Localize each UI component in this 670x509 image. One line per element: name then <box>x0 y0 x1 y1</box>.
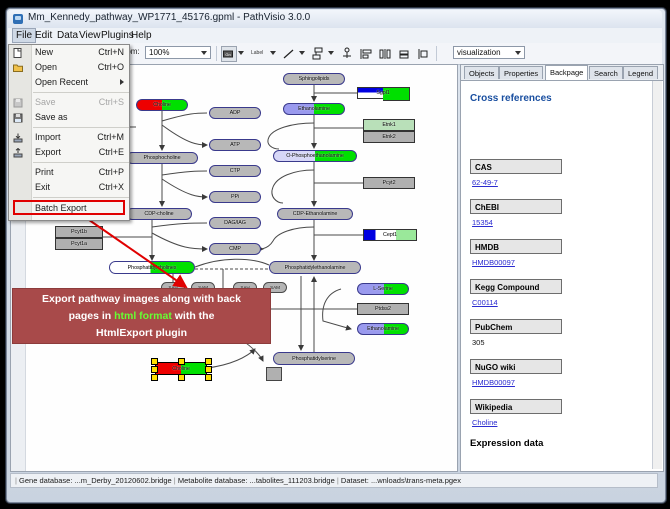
node-cmp[interactable]: CMP <box>209 243 261 255</box>
node-l-serine[interactable]: L-Serine <box>357 283 409 295</box>
callout-line2-pre: pages in <box>69 310 115 322</box>
tab-search[interactable]: Search <box>589 66 623 79</box>
menu-item-export[interactable]: Export Ctrl+E <box>9 145 129 160</box>
side-panel: Objects Properties Backpage Search Legen… <box>460 64 664 472</box>
callout-line2-post: with the <box>172 310 215 322</box>
xref-value-chebi[interactable]: 15354 <box>472 218 493 227</box>
node-cdp-choline[interactable]: CDP-choline <box>126 208 192 220</box>
node-ethanolamine-bottom[interactable]: Ethanolamine <box>357 323 409 335</box>
node-phosphatidylserine[interactable]: Phosphatidylserine <box>273 352 355 365</box>
node-cept1[interactable]: Cept1 <box>363 229 417 241</box>
callout-highlight: html format <box>114 310 172 322</box>
menu-item-label: Save as <box>35 112 68 122</box>
handle-w[interactable] <box>151 366 158 373</box>
pathvisio-icon <box>13 14 23 24</box>
folder-open-icon <box>13 63 24 73</box>
handle-nw[interactable] <box>151 358 158 365</box>
xref-header-pubchem: PubChem <box>470 319 562 334</box>
stack-tool-icon[interactable] <box>396 46 412 62</box>
menu-item-save-as[interactable]: Save as <box>9 110 129 125</box>
menu-item-accel: Ctrl+P <box>99 165 124 180</box>
menu-item-label: Print <box>35 167 54 177</box>
menu-item-label: Save <box>35 97 56 107</box>
xref-value-kegg[interactable]: C00114 <box>472 298 498 307</box>
node-dag-iag[interactable]: DAG/IAG <box>209 217 261 229</box>
menu-item-open[interactable]: Open Ctrl+O <box>9 60 129 75</box>
label-dropdown-icon[interactable] <box>270 51 276 55</box>
chevron-down-icon <box>515 51 521 55</box>
tab-properties[interactable]: Properties <box>499 66 543 79</box>
node-pcyt1a[interactable]: Pcyt1a <box>55 238 103 250</box>
status-dataset-label: Dataset: <box>341 476 369 485</box>
cross-references-title: Cross references <box>470 93 552 104</box>
menu-item-exit[interactable]: Exit Ctrl+X <box>9 180 129 195</box>
menu-item-label: Import <box>35 132 61 142</box>
shape-dropdown-icon[interactable] <box>328 51 334 55</box>
new-document-icon <box>13 48 24 58</box>
svg-text:Gn: Gn <box>225 52 230 57</box>
batch-export-highlight <box>13 200 125 215</box>
align-tool-icon[interactable] <box>358 46 374 62</box>
callout-line1: Export pathway images along with back <box>42 293 241 305</box>
node-adp[interactable]: ADP <box>209 107 261 119</box>
datanode-dropdown-icon[interactable] <box>238 51 244 55</box>
handle-sw[interactable] <box>151 374 158 381</box>
export-icon <box>13 148 24 158</box>
distribute-tool-icon[interactable] <box>377 46 393 62</box>
shape-tool-icon[interactable] <box>310 46 326 62</box>
menu-item-label: Open Recent <box>35 77 88 87</box>
menu-item-accel: Ctrl+S <box>99 95 124 110</box>
side-panel-scrollbar[interactable] <box>652 81 662 469</box>
menu-item-accel: Ctrl+E <box>99 145 124 160</box>
line-dropdown-icon[interactable] <box>299 51 305 55</box>
menu-separator <box>33 127 129 128</box>
file-menu-dropdown[interactable]: New Ctrl+N Open Ctrl+O Open Recent Save … <box>8 44 130 221</box>
datanode-tool-icon[interactable]: Gn <box>221 46 237 62</box>
tab-objects[interactable]: Objects <box>464 66 499 79</box>
callout-line3: HtmlExport plugin <box>96 327 187 339</box>
chevron-down-icon <box>201 51 207 55</box>
handle-s[interactable] <box>178 374 185 381</box>
node-etnk1[interactable]: Etnk1 <box>363 119 415 131</box>
label-tool-text: Label <box>251 50 263 56</box>
node-ptdss2[interactable]: Ptdss2 <box>357 303 409 315</box>
xref-header-wikipedia: Wikipedia <box>470 399 562 414</box>
zoom-value: 100% <box>149 48 169 57</box>
menu-item-accel: Ctrl+M <box>97 130 124 145</box>
node-phosphatidylethanolamine[interactable]: Phosphatidylethanolamine <box>269 261 361 274</box>
node-ctp[interactable]: CTP <box>209 165 261 177</box>
menu-item-save: Save Ctrl+S <box>9 95 129 110</box>
tab-legend[interactable]: Legend <box>623 66 658 79</box>
xref-header-kegg: Kegg Compound <box>470 279 562 294</box>
menu-item-label: Export <box>35 147 61 157</box>
zoom-combo[interactable]: 100% <box>145 46 211 59</box>
xref-value-pubchem: 305 <box>472 338 485 347</box>
handle-se[interactable] <box>205 374 212 381</box>
status-metabolite-db-value: ...tabolites_111203.bridge <box>250 476 335 485</box>
node-cdp-ethanolamine[interactable]: CDP-Ethanolamine <box>277 208 353 220</box>
screenshot-root: Mm_Kennedy_pathway_WP1771_45176.gpml - P… <box>0 0 670 509</box>
order-tool-icon[interactable] <box>415 46 431 62</box>
save-disk-icon <box>13 98 24 108</box>
xref-header-hmdb: HMDB <box>470 239 562 254</box>
node-atp[interactable]: ATP <box>209 139 261 151</box>
handle-ne[interactable] <box>205 358 212 365</box>
status-dataset-value: ...wnloads\trans-meta.pgex <box>371 476 461 485</box>
menu-separator <box>33 92 129 93</box>
expression-data-title: Expression data <box>470 438 543 449</box>
line-tool-icon[interactable] <box>281 46 297 62</box>
node-o-phosphoethanolamine[interactable]: O-Phosphoethanolamine <box>273 150 357 162</box>
node-sphingolipids[interactable]: Sphingolipids <box>283 73 345 85</box>
menu-edit[interactable]: Edit <box>32 29 55 42</box>
annotation-callout: Export pathway images along with back pa… <box>12 288 271 344</box>
handle-e[interactable] <box>205 366 212 373</box>
node-phosphatidylcholines[interactable]: Phosphatidylcholines <box>109 261 195 274</box>
xref-value-wikipedia[interactable]: Choline <box>472 418 497 427</box>
visualization-combo[interactable]: visualization <box>453 46 525 59</box>
menu-item-label: Exit <box>35 182 50 192</box>
node-ethanolamine-top[interactable]: Ethanolamine <box>283 103 345 115</box>
menu-help[interactable]: Help <box>128 29 155 42</box>
xref-header-nugo: NuGO wiki <box>470 359 562 374</box>
menu-item-open-recent[interactable]: Open Recent <box>9 75 129 90</box>
xref-value-cas[interactable]: 62-49-7 <box>472 178 498 187</box>
menu-item-accel: Ctrl+O <box>98 60 124 75</box>
node-pcyt2[interactable]: Pcyt2 <box>363 177 415 189</box>
status-metabolite-db-label: Metabolite database: <box>178 476 248 485</box>
xref-header-cas: CAS <box>470 159 562 174</box>
node-phosphocholine[interactable]: Phosphocholine <box>126 152 198 164</box>
menu-separator <box>33 162 129 163</box>
chevron-right-icon <box>120 79 124 85</box>
menu-item-label: New <box>35 47 53 57</box>
window-title: Mm_Kennedy_pathway_WP1771_45176.gpml - P… <box>28 12 310 23</box>
node-choline[interactable]: Choline <box>136 99 188 111</box>
menu-item-accel: Ctrl+X <box>99 180 124 195</box>
menu-item-label: Open <box>35 62 57 72</box>
status-gene-db-value: ...m_Derby_20120602.bridge <box>75 476 172 485</box>
save-as-icon <box>13 113 24 123</box>
import-icon <box>13 133 24 143</box>
anchor-tool-icon[interactable] <box>339 46 355 62</box>
node-etnk2[interactable]: Etnk2 <box>363 131 415 143</box>
xref-value-nugo[interactable]: HMDB00097 <box>472 378 515 387</box>
node-pcyt1b[interactable]: Pcyt1b <box>55 226 103 238</box>
node-ppi[interactable]: PPi <box>209 191 261 203</box>
menu-item-new[interactable]: New Ctrl+N <box>9 45 129 60</box>
menu-separator <box>33 197 129 198</box>
status-bar: | Gene database: ...m_Derby_20120602.bri… <box>10 473 658 488</box>
handle-n[interactable] <box>178 358 185 365</box>
xref-header-chebi: ChEBI <box>470 199 562 214</box>
status-gene-db-label: Gene database: <box>19 476 72 485</box>
menu-item-accel: Ctrl+N <box>98 45 124 60</box>
xref-value-hmdb[interactable]: HMDB00097 <box>472 258 515 267</box>
menu-item-import[interactable]: Import Ctrl+M <box>9 130 129 145</box>
choline-connector-box <box>266 367 282 381</box>
tab-backpage[interactable]: Backpage <box>545 65 588 80</box>
visualization-value: visualization <box>457 48 501 57</box>
backpage-content: Cross references CAS 62-49-7 ChEBI 15354… <box>462 81 652 469</box>
label-tool-button[interactable]: Label <box>248 46 270 62</box>
menu-item-print[interactable]: Print Ctrl+P <box>9 165 129 180</box>
